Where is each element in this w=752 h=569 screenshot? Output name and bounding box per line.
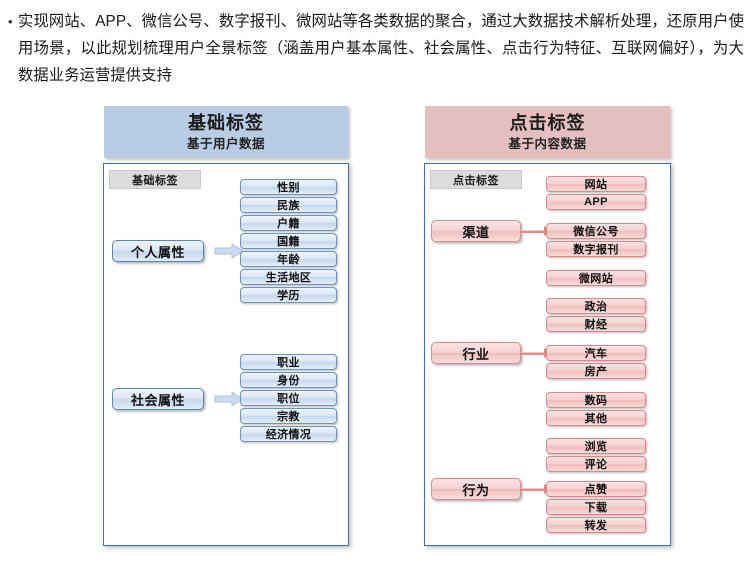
panel-body-basic: 基础标签 个人属性 性别 民族 户籍 国籍 年龄 生活地区 学历 社会属性 职业… (103, 163, 349, 546)
leaf-living-area[interactable]: 生活地区 (240, 269, 337, 285)
leaf-automobile[interactable]: 汽车 (546, 345, 646, 361)
leaf-others[interactable]: 其他 (546, 410, 646, 426)
bullet-body-text: 实现网站、APP、微信公号、数字报刊、微网站等各类数据的聚合，通过大数据技术解析… (18, 8, 744, 89)
leaf-wechat-account[interactable]: 微信公号 (546, 223, 646, 239)
bullet-marker-icon: • (8, 8, 18, 35)
panel-subtitle-click: 基于内容数据 (425, 135, 670, 153)
leaf-like[interactable]: 点赞 (546, 481, 646, 497)
panel-title-click: 点击标签 (425, 111, 670, 135)
leaf-household[interactable]: 户籍 (240, 215, 337, 231)
category-industry[interactable]: 行业 (431, 342, 521, 364)
leaf-job-title[interactable]: 职位 (240, 390, 337, 406)
bullet-paragraph: • 实现网站、APP、微信公号、数字报刊、微网站等各类数据的聚合，通过大数据技术… (8, 8, 744, 89)
leaf-digital[interactable]: 数码 (546, 392, 646, 408)
category-behavior[interactable]: 行为 (431, 478, 521, 500)
leaf-forward[interactable]: 转发 (546, 517, 646, 533)
leaf-comment[interactable]: 评论 (546, 456, 646, 472)
leaf-politics[interactable]: 政治 (546, 298, 646, 314)
category-channel[interactable]: 渠道 (431, 220, 521, 242)
panel-subtitle-basic: 基于用户数据 (104, 135, 348, 153)
leaf-religion[interactable]: 宗教 (240, 408, 337, 424)
panel-body-click: 点击标签 渠道 网站 APP 微信公号 数字报刊 微网站 行业 政治 财经 汽车… (424, 163, 671, 546)
category-social-attributes[interactable]: 社会属性 (112, 388, 204, 410)
leaf-identity[interactable]: 身份 (240, 372, 337, 388)
leaf-digital-press[interactable]: 数字报刊 (546, 241, 646, 257)
leaf-real-estate[interactable]: 房产 (546, 363, 646, 379)
slide-canvas: • 实现网站、APP、微信公号、数字报刊、微网站等各类数据的聚合，通过大数据技术… (0, 0, 752, 569)
panel-header-click: 点击标签 基于内容数据 (425, 106, 670, 158)
corner-tag-basic: 基础标签 (109, 170, 201, 189)
leaf-finance[interactable]: 财经 (546, 316, 646, 332)
category-personal-attributes[interactable]: 个人属性 (112, 240, 204, 262)
panel-title-basic: 基础标签 (104, 111, 348, 135)
leaf-occupation[interactable]: 职业 (240, 354, 337, 370)
leaf-gender[interactable]: 性别 (240, 179, 337, 195)
leaf-app[interactable]: APP (546, 194, 646, 210)
panel-header-basic: 基础标签 基于用户数据 (104, 106, 348, 158)
leaf-browse[interactable]: 浏览 (546, 438, 646, 454)
corner-tag-click: 点击标签 (430, 170, 522, 189)
leaf-economic-status[interactable]: 经济情况 (240, 426, 337, 442)
leaf-download[interactable]: 下载 (546, 499, 646, 515)
leaf-education[interactable]: 学历 (240, 287, 337, 303)
leaf-ethnicity[interactable]: 民族 (240, 197, 337, 213)
leaf-age[interactable]: 年龄 (240, 251, 337, 267)
leaf-micro-site[interactable]: 微网站 (546, 270, 646, 286)
leaf-website[interactable]: 网站 (546, 176, 646, 192)
leaf-nationality[interactable]: 国籍 (240, 233, 337, 249)
